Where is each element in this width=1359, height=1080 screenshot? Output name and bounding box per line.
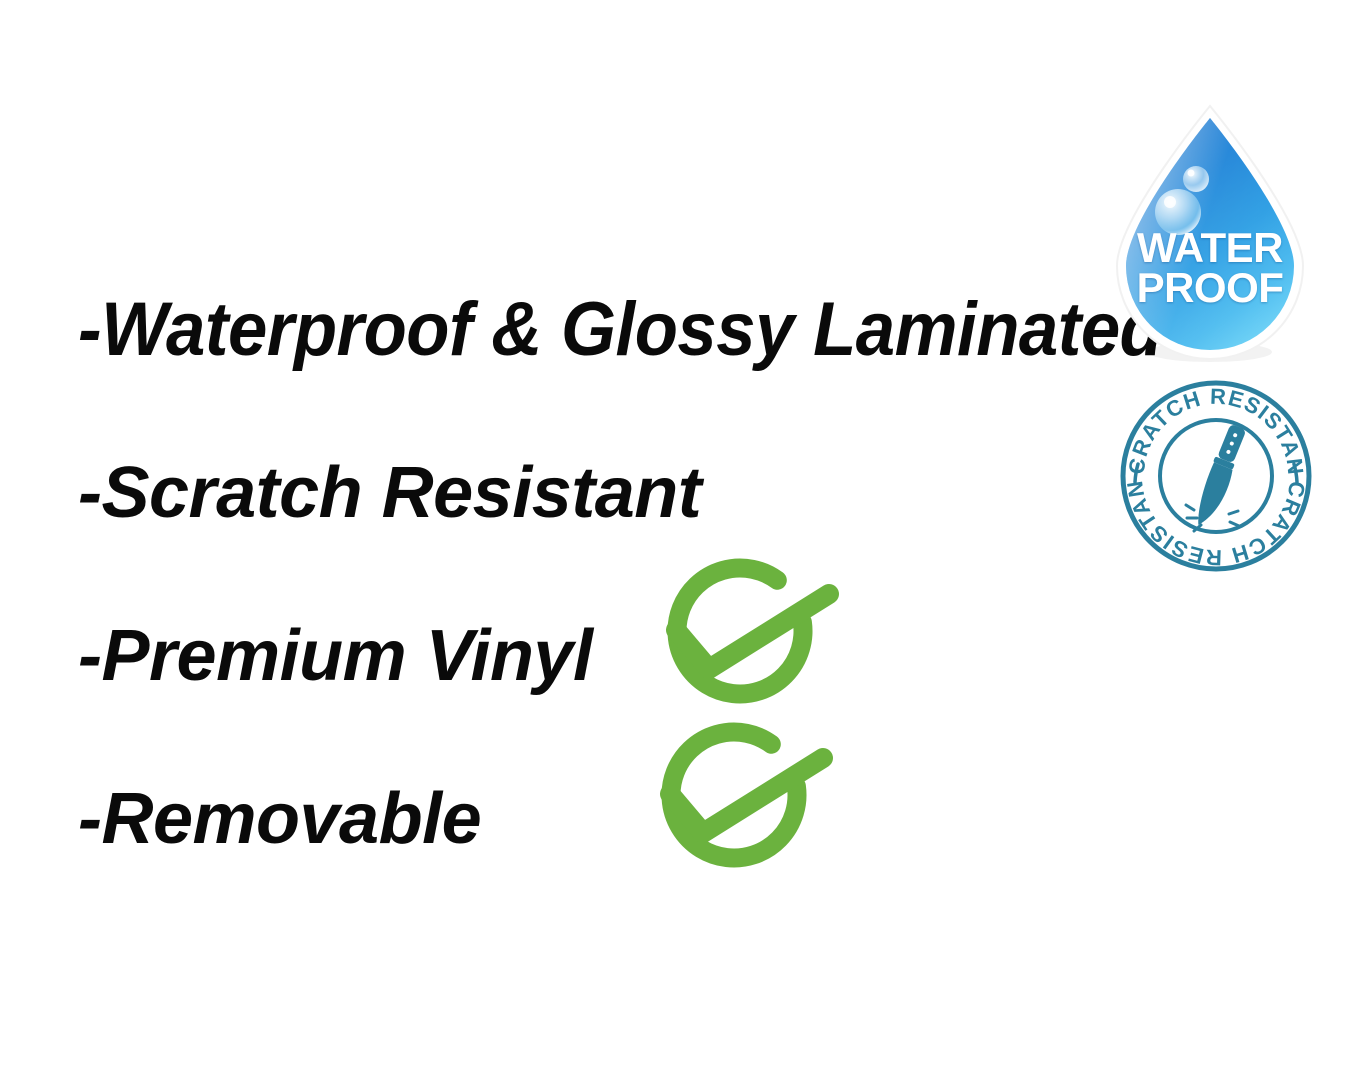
knife-icon (1189, 423, 1250, 530)
feature-label-removable: -Removable (78, 783, 481, 855)
waterproof-badge: WATER PROOF (1100, 100, 1320, 366)
scratch-resistant-badge: SCRATCH RESISTANT SCRATCH RESISTANT (1118, 378, 1314, 574)
water-droplet-icon (1100, 100, 1320, 366)
feature-label-premium-vinyl: -Premium Vinyl (78, 620, 592, 692)
feature-item-scratch-resistant: -Scratch Resistant (78, 411, 1108, 574)
feature-label-waterproof: -Waterproof & Glossy Laminated (78, 292, 1162, 368)
feature-label-scratch-resistant: -Scratch Resistant (78, 457, 701, 529)
checkmark-premium-vinyl-icon (645, 558, 840, 706)
bubble-small-icon (1183, 166, 1209, 192)
feature-item-waterproof: -Waterproof & Glossy Laminated (78, 248, 1108, 411)
feature-list: -Waterproof & Glossy Laminated -Scratch … (78, 248, 1108, 900)
scratch-badge-text-top: SCRATCH RESISTANT (1118, 378, 1308, 477)
checkmark-removable-icon (639, 722, 834, 870)
feature-item-removable: -Removable (78, 737, 1108, 900)
feature-item-premium-vinyl: -Premium Vinyl (78, 574, 1108, 737)
product-feature-graphic: -Waterproof & Glossy Laminated -Scratch … (0, 0, 1359, 1080)
bubble-large-icon (1155, 189, 1201, 235)
